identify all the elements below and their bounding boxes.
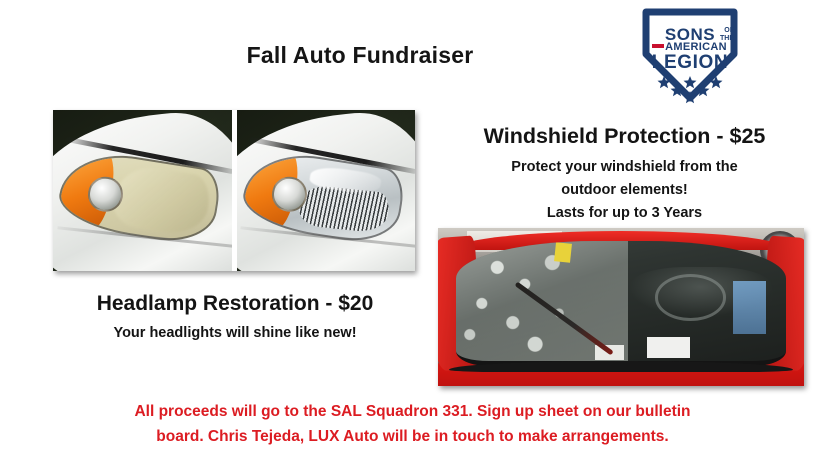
headlamp-photo-before [53, 110, 232, 271]
headlamp-offer-subtext: Your headlights will shine like new! [40, 325, 430, 341]
fundraiser-poster: Fall Auto Fundraiser SONS OF THE AMERICA… [0, 0, 825, 459]
headlamp-photo-after [237, 110, 416, 271]
headlamp-offer-heading: Headlamp Restoration - $20 [40, 292, 430, 316]
white-card-a [647, 337, 690, 359]
footer-note: All proceeds will go to the SAL Squadron… [30, 399, 795, 449]
windshield-sub-line-1: Protect your windshield from the [432, 156, 817, 179]
sal-logo: SONS OF THE AMERICAN LEGION [624, 2, 756, 106]
page-title: Fall Auto Fundraiser [180, 42, 540, 69]
lens-reflector-fins [297, 184, 390, 235]
windshield-offer-heading: Windshield Protection - $25 [432, 124, 817, 149]
lens-haze [110, 163, 214, 239]
windshield-sub-line-3: Lasts for up to 3 Years [432, 202, 817, 225]
yellow-tag [554, 242, 572, 263]
blue-tint-strip [733, 281, 766, 334]
footer-line-1: All proceeds will go to the SAL Squadron… [30, 399, 795, 424]
footer-line-2: board. Chris Tejeda, LUX Auto will be in… [30, 424, 795, 449]
logo-line-legion: LEGION [652, 52, 728, 73]
shield-icon: SONS OF THE AMERICAN LEGION [624, 2, 756, 106]
windshield-glass [456, 241, 785, 366]
windshield-sub-line-2: outdoor elements! [432, 179, 817, 202]
logo-red-accent-bar [652, 44, 664, 48]
windshield-photo [438, 228, 804, 386]
logo-line-of: OF [724, 27, 734, 34]
headlamp-before-after-photo [53, 110, 415, 271]
headlamp-photo-pair [53, 110, 415, 271]
steering-wheel [655, 274, 727, 321]
windshield-offer-subtext: Protect your windshield from the outdoor… [432, 156, 817, 225]
